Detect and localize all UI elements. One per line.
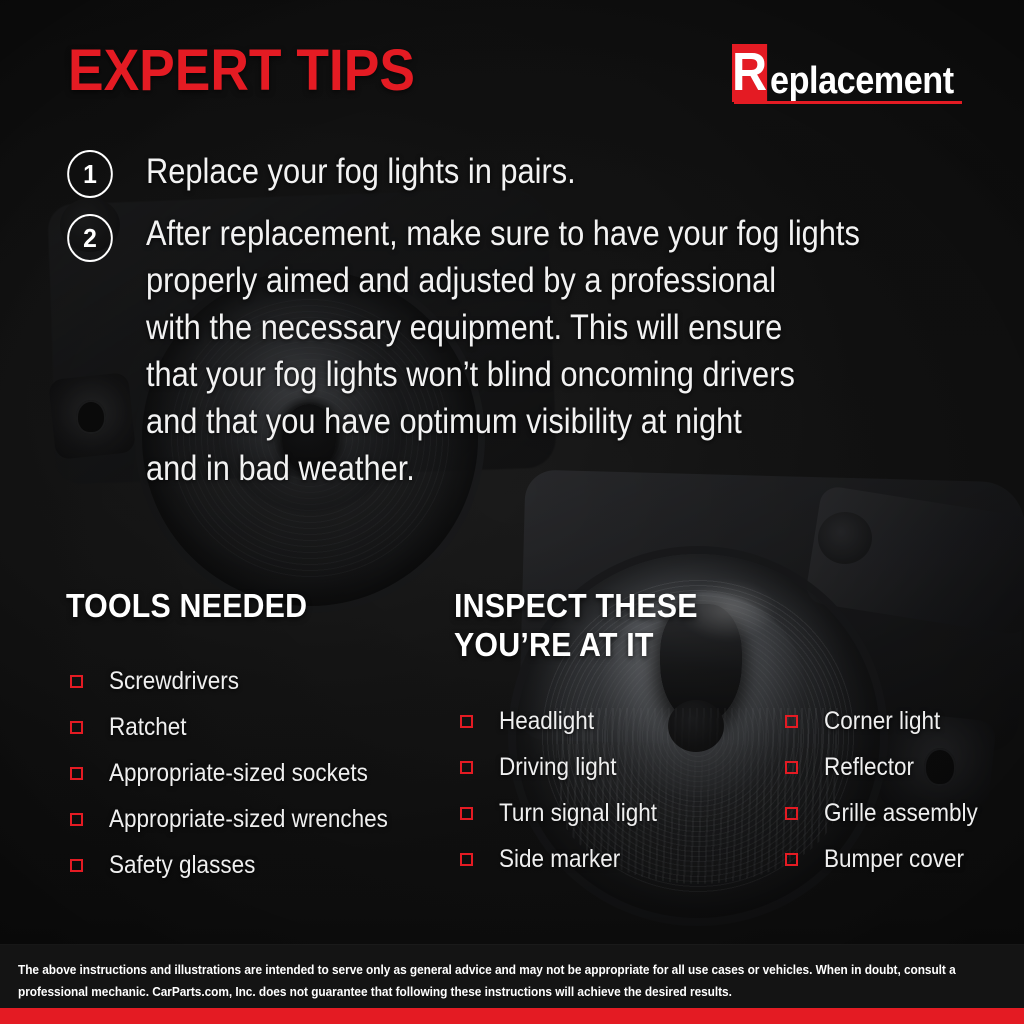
list-item[interactable]: Ratchet <box>70 704 419 750</box>
list-item[interactable]: Headlight <box>460 698 729 744</box>
list-item[interactable]: Driving light <box>460 744 729 790</box>
checkbox-icon[interactable] <box>70 813 83 826</box>
logo-initial-badge: R <box>732 44 767 102</box>
list-item-label: Appropriate-sized sockets <box>109 761 368 786</box>
inspect-list-left: Headlight Driving light Turn signal ligh… <box>460 698 729 882</box>
list-item-label: Turn signal light <box>499 801 706 826</box>
tools-needed-section: TOOLS NEEDED Screwdrivers Ratchet Approp… <box>66 586 466 625</box>
checkbox-icon[interactable] <box>460 761 473 774</box>
list-item-label: Bumper cover <box>824 847 1024 872</box>
checkbox-icon[interactable] <box>70 767 83 780</box>
list-item[interactable]: Appropriate-sized sockets <box>70 750 419 796</box>
inspect-these-section: INSPECT THESE YOU’RE AT IT Headlight Dri… <box>454 586 994 664</box>
expert-tips-infographic: EXPERT TIPS R eplacement 1 Replace your … <box>0 0 1024 1024</box>
tools-needed-heading: TOOLS NEEDED <box>66 586 434 625</box>
tip-item-2: 2 After replacement, make sure to have y… <box>66 210 966 492</box>
list-item-label: Corner light <box>824 709 1024 734</box>
footer-accent-bar <box>0 1008 1024 1024</box>
list-item-label: Headlight <box>499 709 706 734</box>
checkbox-icon[interactable] <box>460 807 473 820</box>
checkbox-icon[interactable] <box>785 853 798 866</box>
list-item-label: Safety glasses <box>109 853 255 878</box>
checkbox-icon[interactable] <box>70 859 83 872</box>
tip-item-1: 1 Replace your fog lights in pairs. <box>66 148 966 198</box>
list-item[interactable]: Side marker <box>460 836 729 882</box>
checkbox-icon[interactable] <box>785 761 798 774</box>
list-item[interactable]: Corner light <box>785 698 1024 744</box>
tip-text-1: Replace your fog lights in pairs. <box>146 148 576 195</box>
list-item[interactable]: Grille assembly <box>785 790 1024 836</box>
list-item[interactable]: Appropriate-sized wrenches <box>70 796 419 842</box>
inspect-these-heading: INSPECT THESE YOU’RE AT IT <box>454 586 951 664</box>
list-item-label: Ratchet <box>109 715 187 740</box>
tips-list: 1 Replace your fog lights in pairs. 2 Af… <box>66 148 966 504</box>
list-item-label: Driving light <box>499 755 706 780</box>
tip-number-badge-2: 2 <box>67 214 113 262</box>
footer-disclaimer: The above instructions and illustrations… <box>0 945 1024 1008</box>
footer-disclaimer-text: The above instructions and illustrations… <box>18 959 957 1003</box>
content-layer: EXPERT TIPS R eplacement 1 Replace your … <box>0 0 1024 1024</box>
logo-underline-rule <box>734 101 962 104</box>
checkbox-icon[interactable] <box>460 715 473 728</box>
checkbox-icon[interactable] <box>785 807 798 820</box>
list-item[interactable]: Safety glasses <box>70 842 419 888</box>
logo-wordmark: eplacement <box>770 62 954 100</box>
list-item[interactable]: Screwdrivers <box>70 658 419 704</box>
checkbox-icon[interactable] <box>460 853 473 866</box>
list-item-label: Reflector <box>824 755 1024 780</box>
tools-needed-list: Screwdrivers Ratchet Appropriate-sized s… <box>70 658 419 888</box>
logo-row: R eplacement <box>732 44 962 102</box>
list-item-label: Screwdrivers <box>109 669 239 694</box>
tip-text-2: After replacement, make sure to have you… <box>146 210 860 492</box>
list-item-label: Side marker <box>499 847 706 872</box>
list-item-label: Grille assembly <box>824 801 1024 826</box>
tip-number-badge-1: 1 <box>67 150 113 198</box>
inspect-list-right: Corner light Reflector Grille assembly <box>785 698 1024 882</box>
list-item[interactable]: Turn signal light <box>460 790 729 836</box>
list-item-label: Appropriate-sized wrenches <box>109 807 388 832</box>
inspect-these-lists: Headlight Driving light Turn signal ligh… <box>460 698 1024 882</box>
list-item[interactable]: Reflector <box>785 744 1024 790</box>
replacement-brand-logo: R eplacement <box>732 44 962 108</box>
checkbox-icon[interactable] <box>70 721 83 734</box>
checkbox-icon[interactable] <box>785 715 798 728</box>
checkbox-icon[interactable] <box>70 675 83 688</box>
list-item[interactable]: Bumper cover <box>785 836 1024 882</box>
page-title: EXPERT TIPS <box>68 42 415 100</box>
